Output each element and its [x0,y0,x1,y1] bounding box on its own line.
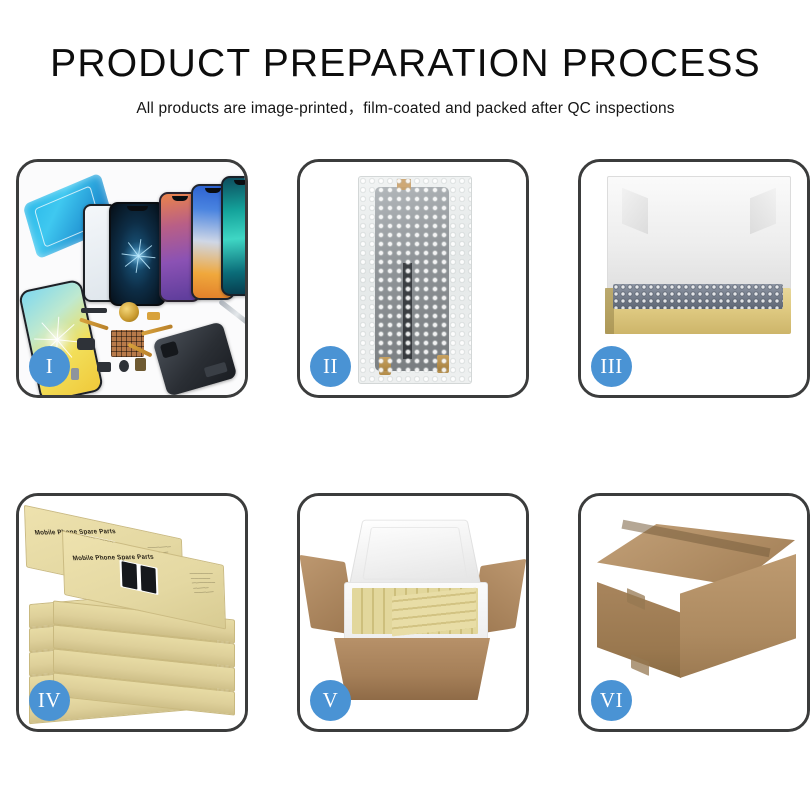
part-gold-contact-icon [147,312,160,320]
step-badge-6: VI [591,680,632,721]
black-phone-screen-icon [109,202,166,306]
box-flap-right-icon [750,188,776,235]
step-badge-5: V [310,680,351,721]
page-subtitle: All products are image-printed，film-coat… [0,85,811,118]
step-badge-1: I [29,346,70,387]
step-badge-2: II [310,346,351,387]
box-spec-lines: —————————————————————————— [189,571,218,595]
carton-front-icon [334,638,490,700]
part-sim-tray-icon [71,368,79,380]
page-title: PRODUCT PREPARATION PROCESS [0,0,811,85]
process-step-panel-2: II [297,159,529,398]
speaker-module-icon [119,302,139,322]
phone-notch-icon [172,196,187,201]
box-product-photo [119,560,158,595]
process-steps-grid: I II [16,159,795,731]
step-badge-3: III [591,346,632,387]
process-step-panel-4: Mobile Phone Spare Parts ———————————————… [16,493,248,732]
process-step-panel-6: VI [578,493,810,732]
part-battery-connector-icon [135,358,146,371]
part-button-icon [97,362,111,372]
header: PRODUCT PREPARATION PROCESS All products… [0,0,811,118]
step-badge-4: IV [29,680,70,721]
process-step-panel-1: I [16,159,248,398]
process-step-panel-5: V [297,493,529,732]
bubble-texture-icon [359,177,471,383]
box-lid-icon [607,176,791,292]
bubble-wrapped-contents-icon [613,284,783,309]
part-vibrator-icon [119,360,129,372]
foam-lid-icon [348,520,482,591]
part-earpiece-icon [81,308,107,313]
teal-phone-icon [221,176,245,296]
phone-notch-icon [234,180,245,185]
phone-notch-icon [205,188,221,193]
box-label-text: Mobile Phone Spare Parts [72,554,155,563]
process-step-panel-3: III [578,159,810,398]
box-flap-left-icon [622,188,648,235]
cracked-glass-icon [121,239,155,273]
product-preparation-infographic: PRODUCT PREPARATION PROCESS All products… [0,0,811,811]
phone-notch-icon [127,206,148,211]
bubble-wrap-bag-icon [358,176,472,384]
part-camera-icon [77,338,95,350]
